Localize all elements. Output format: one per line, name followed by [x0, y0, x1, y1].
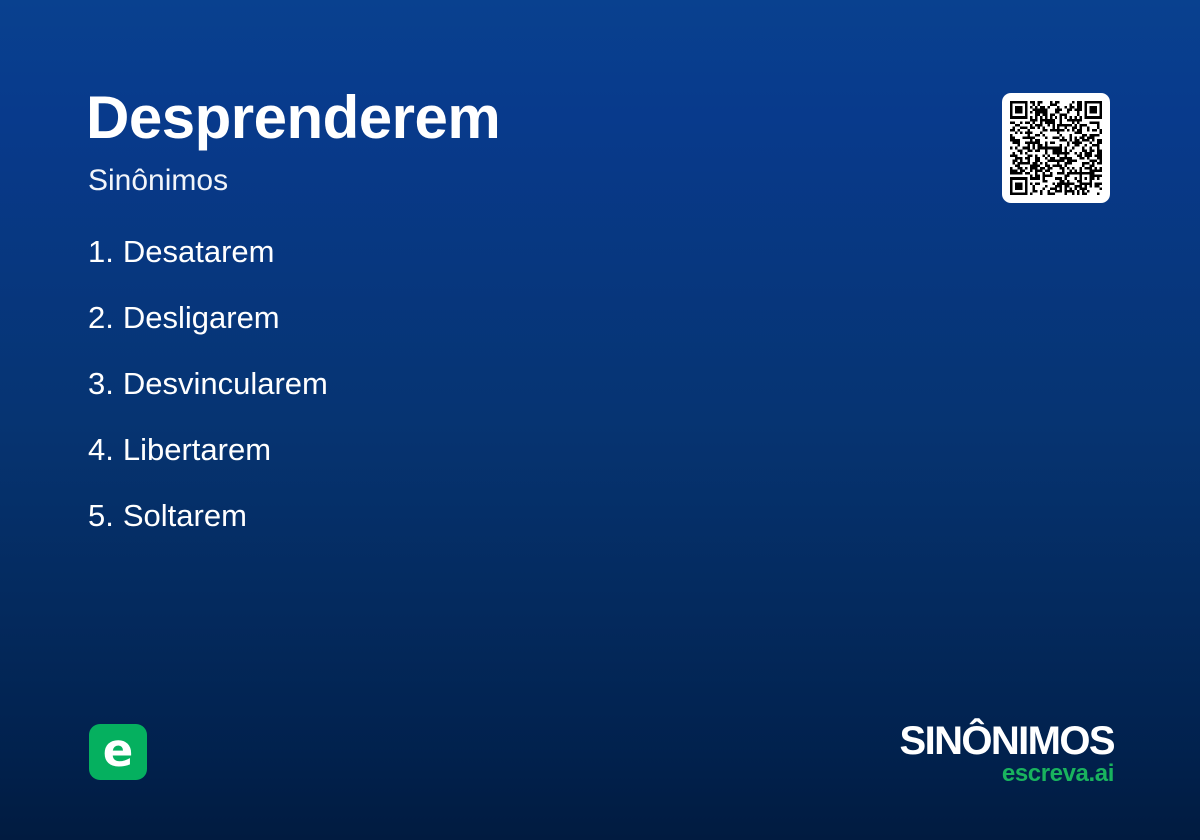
list-item-index: 4.: [88, 432, 114, 467]
badge-letter: e: [103, 728, 134, 773]
list-item-index: 2.: [88, 300, 114, 335]
qr-code-canvas: [1010, 101, 1102, 195]
list-item-index: 1.: [88, 234, 114, 269]
synonym-list: 1.Desatarem 2.Desligarem 3.Desvincularem…: [88, 236, 868, 566]
list-item-index: 3.: [88, 366, 114, 401]
list-item-index: 5.: [88, 498, 114, 533]
list-item-label: Desatarem: [123, 234, 275, 269]
footer-logo-sub: escreva.ai: [899, 761, 1114, 786]
qr-code-icon[interactable]: [1002, 93, 1110, 203]
list-item-label: Desvincularem: [123, 366, 328, 401]
page-subtitle: Sinônimos: [88, 166, 228, 196]
synonym-card: Desprenderem Sinônimos 1.Desatarem 2.Des…: [0, 0, 1200, 840]
list-item: 2.Desligarem: [88, 302, 868, 333]
list-item: 5.Soltarem: [88, 500, 868, 531]
list-item-label: Desligarem: [123, 300, 280, 335]
list-item-label: Soltarem: [123, 498, 247, 533]
escreva-e-badge-icon[interactable]: e: [89, 724, 147, 780]
list-item: 3.Desvincularem: [88, 368, 868, 399]
list-item: 1.Desatarem: [88, 236, 868, 267]
list-item: 4.Libertarem: [88, 434, 868, 465]
list-item-label: Libertarem: [123, 432, 271, 467]
page-title: Desprenderem: [86, 88, 500, 148]
footer-logo[interactable]: SINÔNIMOS escreva.ai: [899, 722, 1114, 786]
footer-logo-main: SINÔNIMOS: [899, 722, 1114, 760]
